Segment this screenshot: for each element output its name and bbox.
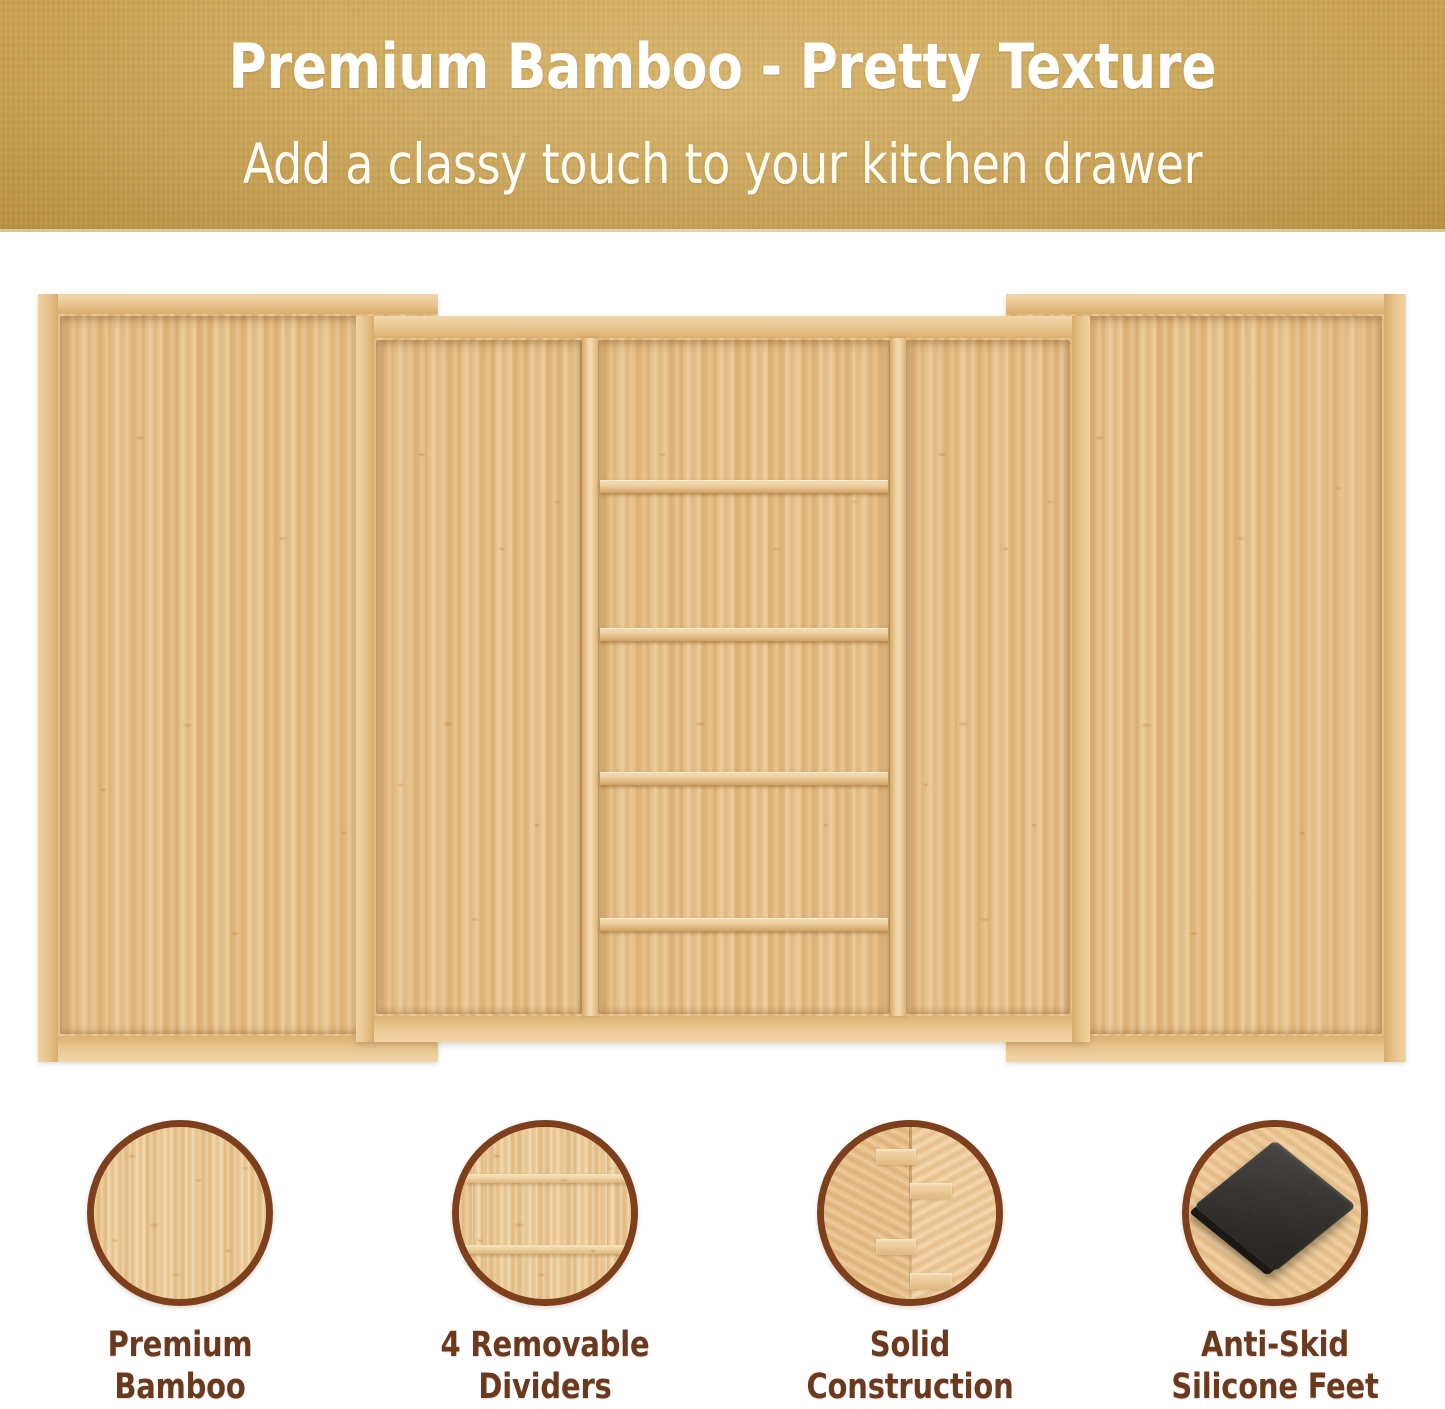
feature-label-line2: Dividers	[407, 1366, 683, 1408]
silicone-foot-icon	[1182, 1120, 1368, 1306]
headline-text: Premium Bamboo - Pretty Texture	[51, 30, 1395, 104]
feature-label-line2: Construction	[772, 1366, 1048, 1408]
bamboo-grain-fill	[459, 1127, 631, 1299]
removable-divider-2[interactable]	[600, 628, 888, 641]
dovetail-notch-2	[910, 1183, 952, 1199]
subheadline-text: Add a classy touch to your kitchen drawe…	[51, 131, 1395, 197]
feature-label-removable-dividers: 4 Removable Dividers	[407, 1324, 683, 1408]
divider-icon-wall-left	[473, 1127, 483, 1299]
divider-icon-slat-1	[465, 1174, 625, 1183]
feature-label-solid-construction: Solid Construction	[772, 1324, 1048, 1408]
header-banner: Premium Bamboo - Pretty Texture Add a cl…	[0, 0, 1445, 232]
divider-icon-wall-right	[607, 1127, 617, 1299]
compartment-2	[376, 340, 582, 1014]
feature-label-line1: Anti-Skid	[1137, 1324, 1413, 1366]
removable-dividers-icon	[452, 1120, 638, 1306]
feature-item-premium-bamboo: Premium Bamboo	[30, 1102, 330, 1408]
bamboo-grain-fill	[94, 1127, 266, 1299]
bamboo-grain-icon	[87, 1120, 273, 1306]
center-bottom-wall	[356, 1016, 1090, 1042]
tray-left-left-wall	[38, 294, 58, 1062]
center-left-wall	[356, 316, 374, 1042]
compartment-middle-divided	[598, 340, 890, 1014]
compartment-4	[906, 340, 1070, 1014]
center-top-wall	[356, 316, 1090, 338]
feature-item-removable-dividers: 4 Removable Dividers	[395, 1102, 695, 1408]
feature-label-line1: Solid	[772, 1324, 1048, 1366]
removable-divider-3[interactable]	[600, 772, 888, 785]
feature-label-line1: Premium	[42, 1324, 318, 1366]
dovetail-notch-4	[910, 1273, 952, 1289]
wood-knots-overlay	[598, 340, 890, 1014]
feature-label-silicone-feet: Anti-Skid Silicone Feet	[1137, 1324, 1413, 1408]
wood-knots-overlay	[906, 340, 1070, 1014]
feature-item-solid-construction: Solid Construction	[760, 1102, 1060, 1408]
removable-divider-4[interactable]	[600, 918, 888, 931]
wood-knots-overlay	[376, 340, 582, 1014]
dovetail-joint-icon	[817, 1120, 1003, 1306]
tray-right-right-wall	[1384, 294, 1406, 1062]
tray-left-top-wall	[38, 294, 438, 314]
removable-divider-1[interactable]	[600, 480, 888, 493]
feature-label-premium-bamboo: Premium Bamboo	[42, 1324, 318, 1408]
feature-item-silicone-feet: Anti-Skid Silicone Feet	[1125, 1102, 1425, 1408]
tray-right-top-wall	[1006, 294, 1406, 314]
feature-label-line2: Bamboo	[42, 1366, 318, 1408]
feature-label-line1: 4 Removable	[407, 1324, 683, 1366]
center-right-wall	[1072, 316, 1090, 1042]
product-photo	[0, 232, 1445, 1102]
partition-left	[582, 338, 598, 1016]
dovetail-notch-3	[876, 1239, 916, 1255]
tray-center-body	[356, 316, 1090, 1042]
feature-label-line2: Silicone Feet	[1137, 1366, 1413, 1408]
partition-right	[890, 338, 906, 1016]
divider-icon-slat-2	[465, 1245, 625, 1254]
features-row: Premium Bamboo 4 Removable Dividers	[0, 1102, 1445, 1409]
dovetail-notch-1	[876, 1149, 916, 1165]
